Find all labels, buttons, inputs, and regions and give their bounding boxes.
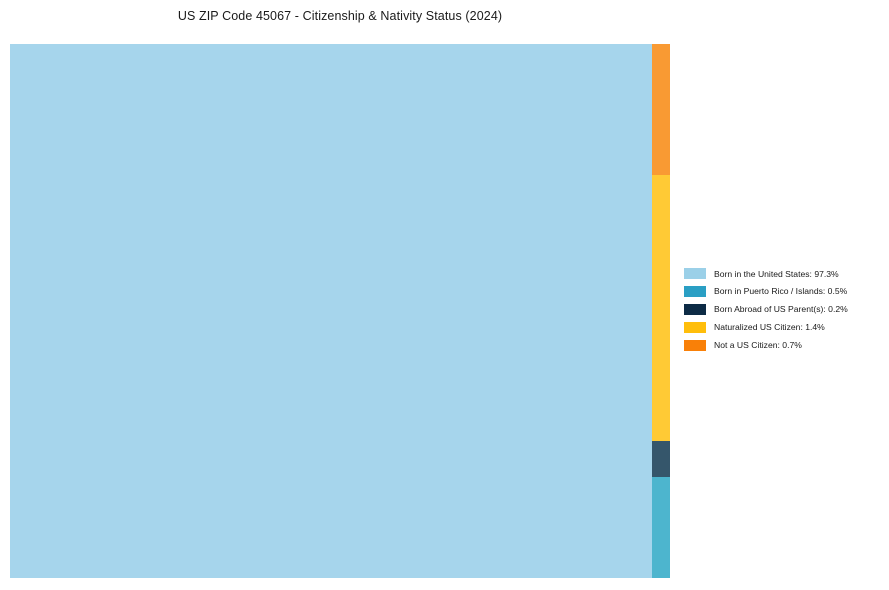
legend-item[interactable]: Not a US Citizen: 0.7% bbox=[684, 336, 884, 354]
treemap-tile[interactable] bbox=[652, 175, 670, 441]
legend-item-label: Naturalized US Citizen: 1.4% bbox=[714, 323, 825, 332]
treemap-tile[interactable] bbox=[10, 44, 652, 578]
chart-legend: Born in the United States: 97.3%Born in … bbox=[684, 265, 884, 354]
chart-title: US ZIP Code 45067 - Citizenship & Nativi… bbox=[0, 9, 680, 23]
legend-item[interactable]: Born in the United States: 97.3% bbox=[684, 265, 884, 283]
chart-figure: US ZIP Code 45067 - Citizenship & Nativi… bbox=[0, 0, 889, 590]
treemap-tile[interactable] bbox=[652, 44, 670, 175]
legend-item[interactable]: Naturalized US Citizen: 1.4% bbox=[684, 318, 884, 336]
treemap-tile[interactable] bbox=[652, 441, 670, 477]
legend-swatch-icon bbox=[684, 268, 706, 279]
treemap-plot-area bbox=[10, 44, 670, 578]
legend-swatch-icon bbox=[684, 304, 706, 315]
legend-swatch-icon bbox=[684, 322, 706, 333]
legend-swatch-icon bbox=[684, 340, 706, 351]
legend-item-label: Born Abroad of US Parent(s): 0.2% bbox=[714, 305, 848, 314]
legend-item-label: Born in Puerto Rico / Islands: 0.5% bbox=[714, 287, 847, 296]
legend-item[interactable]: Born in Puerto Rico / Islands: 0.5% bbox=[684, 283, 884, 301]
legend-item-label: Born in the United States: 97.3% bbox=[714, 270, 839, 279]
treemap-tile[interactable] bbox=[652, 477, 670, 578]
legend-item[interactable]: Born Abroad of US Parent(s): 0.2% bbox=[684, 301, 884, 319]
legend-item-label: Not a US Citizen: 0.7% bbox=[714, 341, 802, 350]
legend-swatch-icon bbox=[684, 286, 706, 297]
